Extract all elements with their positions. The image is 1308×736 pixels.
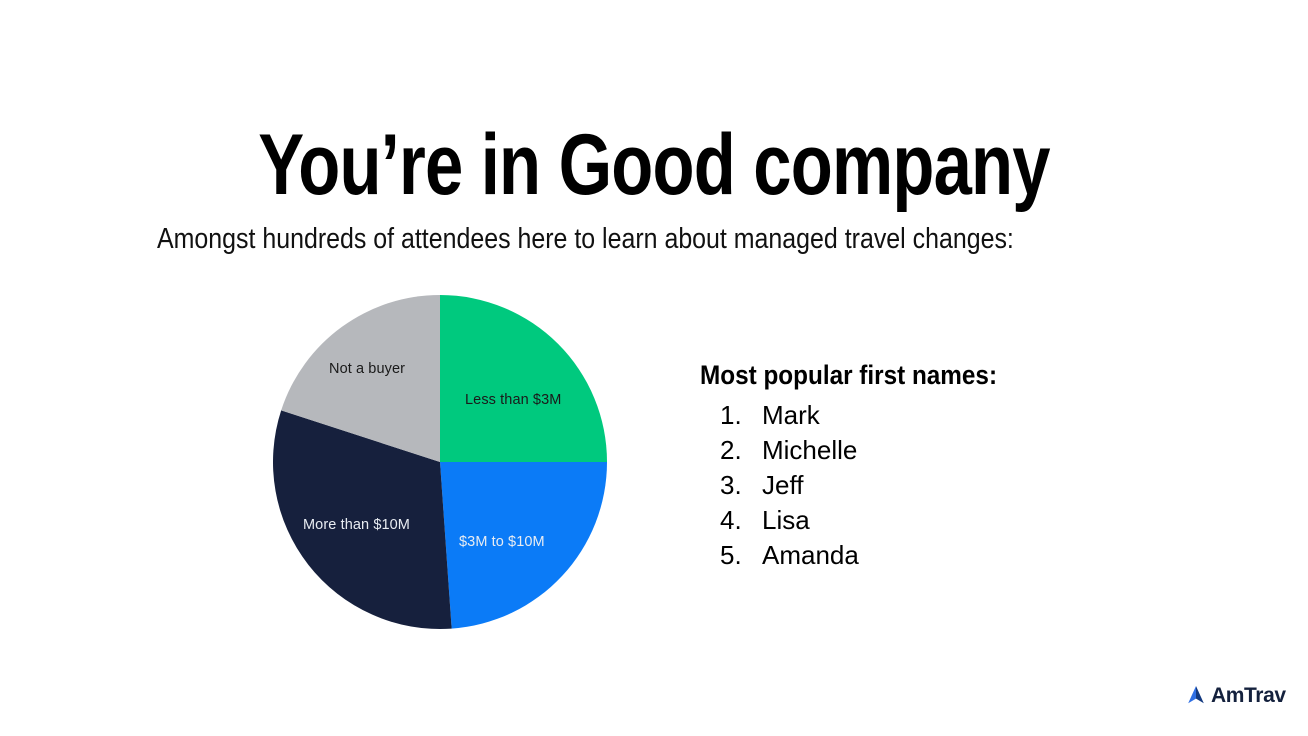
list-item-name: Lisa	[762, 503, 810, 538]
list-item: 4.Lisa	[700, 503, 1180, 538]
list-item: 2.Michelle	[700, 433, 1180, 468]
slide-canvas: You’re in Good company Amongst hundreds …	[0, 0, 1308, 736]
list-item-name: Amanda	[762, 538, 859, 573]
list-item-name: Michelle	[762, 433, 857, 468]
pie-slice-label-less-than-3m: Less than $3M	[465, 393, 561, 408]
list-item: 1.Mark	[700, 398, 1180, 433]
list-item: 5.Amanda	[700, 538, 1180, 573]
list-item-number: 1.	[700, 398, 762, 433]
pie-svg	[273, 295, 607, 629]
list-item-name: Mark	[762, 398, 820, 433]
list-item-number: 4.	[700, 503, 762, 538]
pie-slice-label-more-than-10m: More than $10M	[303, 518, 410, 533]
pie-graphic	[273, 295, 607, 629]
popular-names-heading: Most popular first names:	[700, 360, 1132, 391]
pie-slice-label-not-a-buyer: Not a buyer	[329, 362, 405, 377]
pie-slice	[440, 295, 607, 462]
slide-subtitle: Amongst hundreds of attendees here to le…	[157, 222, 1014, 257]
amtrav-logo: AmTrav	[1185, 684, 1286, 706]
popular-names-block: Most popular first names: 1.Mark2.Michel…	[700, 360, 1180, 573]
popular-names-list: 1.Mark2.Michelle3.Jeff4.Lisa5.Amanda	[700, 398, 1180, 573]
list-item: 3.Jeff	[700, 468, 1180, 503]
page-title: You’re in Good company	[131, 120, 1177, 210]
amtrav-wordmark: AmTrav	[1211, 685, 1286, 706]
list-item-number: 3.	[700, 468, 762, 503]
pie-chart: Less than $3M $3M to $10M More than $10M…	[273, 295, 607, 629]
list-item-number: 5.	[700, 538, 762, 573]
pie-slice-label-3m-to-10m: $3M to $10M	[459, 535, 545, 550]
list-item-number: 2.	[700, 433, 762, 468]
list-item-name: Jeff	[762, 468, 803, 503]
amtrav-arrow-icon	[1185, 684, 1207, 706]
